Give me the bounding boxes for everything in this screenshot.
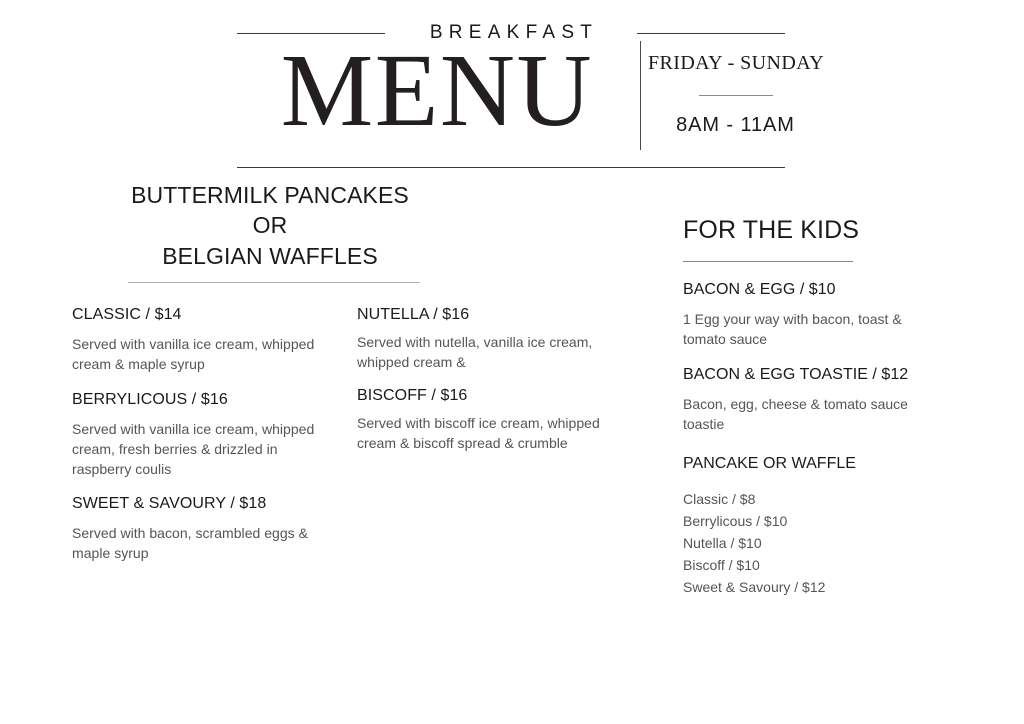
menu-item-name: BERRYLICOUS / $16: [72, 391, 322, 409]
kids-price-line: Biscoff / $10: [683, 554, 933, 576]
kids-price-line: Nutella / $10: [683, 532, 933, 554]
menu-item-name: BISCOFF / $16: [357, 387, 612, 405]
kids-section-title: FOR THE KIDS: [683, 216, 933, 245]
menu-item: SWEET & SAVOURY / $18 Served with bacon,…: [72, 495, 322, 564]
kids-price-line: Sweet & Savoury / $12: [683, 576, 933, 598]
hours-divider: [699, 95, 773, 96]
kids-menu-item-name: BACON & EGG / $10: [683, 281, 933, 299]
menu-item: BISCOFF / $16 Served with biscoff ice cr…: [357, 387, 612, 454]
main-section-title: BUTTERMILK PANCAKES OR BELGIAN WAFFLES: [110, 180, 430, 271]
menu-item-description: Served with vanilla ice cream, whipped c…: [72, 335, 322, 375]
kids-menu-item-description: Bacon, egg, cheese & tomato sauce toasti…: [683, 395, 933, 435]
kids-section: FOR THE KIDS BACON & EGG / $10 1 Egg you…: [683, 216, 933, 598]
service-days: FRIDAY - SUNDAY: [648, 52, 823, 75]
header-vertical-divider: [640, 41, 641, 150]
menu-item-description: Served with vanilla ice cream, whipped c…: [72, 420, 322, 480]
menu-column-middle: NUTELLA / $16 Served with nutella, vanil…: [357, 306, 612, 468]
menu-item: BERRYLICOUS / $16 Served with vanilla ic…: [72, 391, 322, 480]
kids-price-line: Classic / $8: [683, 488, 933, 510]
menu-item-description: Served with biscoff ice cream, whipped c…: [357, 414, 612, 454]
kids-price-line: Berrylicous / $10: [683, 510, 933, 532]
section-title-rule: [128, 282, 420, 283]
kids-menu-item: BACON & EGG / $10 1 Egg your way with ba…: [683, 281, 933, 350]
eyebrow-rule-right: [637, 33, 785, 34]
menu-item-name: SWEET & SAVOURY / $18: [72, 495, 322, 513]
menu-column-left: CLASSIC / $14 Served with vanilla ice cr…: [72, 306, 322, 580]
menu-item-description: Served with bacon, scrambled eggs & mapl…: [72, 524, 322, 564]
menu-item-description: Served with nutella, vanilla ice cream, …: [357, 333, 612, 373]
service-hours-block: FRIDAY - SUNDAY 8AM - 11AM: [648, 52, 823, 137]
menu-item: CLASSIC / $14 Served with vanilla ice cr…: [72, 306, 322, 375]
kids-group-title: PANCAKE OR WAFFLE: [683, 455, 933, 473]
section-title-line-3: BELGIAN WAFFLES: [110, 241, 430, 271]
section-title-line-2: OR: [110, 210, 430, 240]
menu-header: BREAKFAST MENU FRIDAY - SUNDAY 8AM - 11A…: [0, 0, 1024, 180]
kids-price-list: Classic / $8 Berrylicous / $10 Nutella /…: [683, 488, 933, 599]
section-title-line-1: BUTTERMILK PANCAKES: [110, 180, 430, 210]
kids-menu-item-name: BACON & EGG TOASTIE / $12: [683, 366, 933, 384]
kids-menu-item-description: 1 Egg your way with bacon, toast & tomat…: [683, 310, 933, 350]
menu-item-name: CLASSIC / $14: [72, 306, 322, 324]
menu-page: BREAKFAST MENU FRIDAY - SUNDAY 8AM - 11A…: [0, 0, 1024, 724]
menu-item-name: NUTELLA / $16: [357, 306, 612, 324]
menu-item: NUTELLA / $16 Served with nutella, vanil…: [357, 306, 612, 373]
kids-menu-item: BACON & EGG TOASTIE / $12 Bacon, egg, ch…: [683, 366, 933, 435]
kids-title-rule: [683, 261, 853, 262]
page-title: MENU: [237, 38, 637, 144]
header-bottom-rule: [237, 167, 785, 168]
service-time: 8AM - 11AM: [648, 114, 823, 137]
